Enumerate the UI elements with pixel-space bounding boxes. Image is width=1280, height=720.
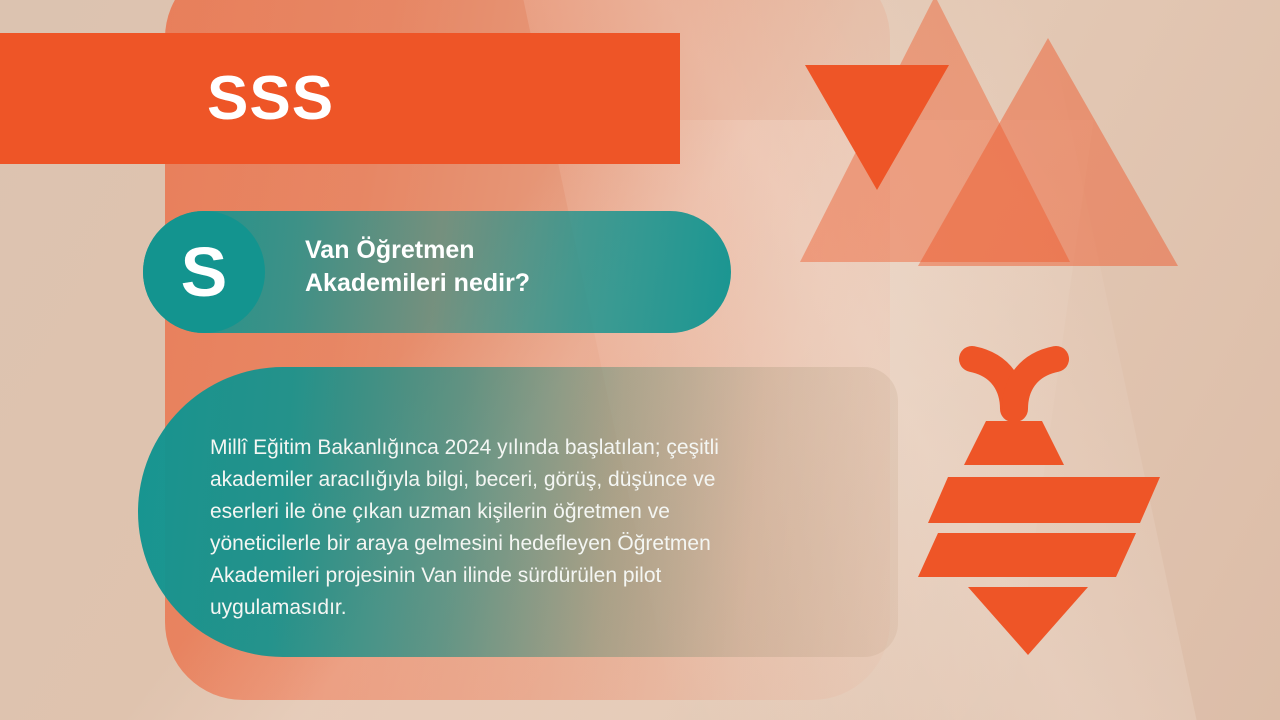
avatar: S [143, 211, 265, 333]
avatar-letter: S [181, 237, 228, 307]
faq-slide: SSS S Van Öğretmen Akademileri nedir? Mi… [0, 0, 1280, 720]
bee-stripe-bottom-icon [918, 533, 1136, 577]
triangle-up-icon [918, 38, 1178, 266]
bee-antenna-right-icon [1015, 359, 1056, 409]
bee-stripe-top-icon [928, 477, 1160, 523]
bee-tail-icon [968, 587, 1088, 655]
title-bar: SSS [0, 33, 680, 164]
bee-head-icon [964, 421, 1064, 465]
triangle-down-icon [805, 65, 949, 190]
question-text: Van Öğretmen Akademileri nedir? [305, 234, 705, 299]
answer-text: Millî Eğitim Bakanlığınca 2024 yılında b… [210, 432, 720, 623]
bee-icon [860, 325, 1160, 665]
page-title: SSS [207, 68, 334, 130]
